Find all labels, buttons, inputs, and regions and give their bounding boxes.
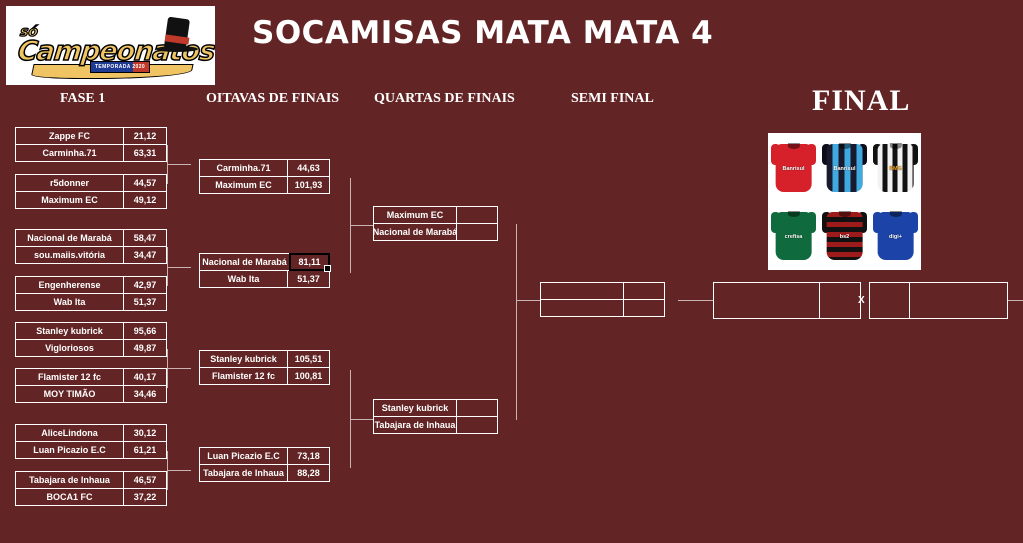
season-badge-label: TEMPORADA 2020 — [95, 64, 145, 70]
team-name: Maximum EC — [374, 207, 457, 223]
match-row[interactable]: sou.maiis.vitória 34,47 — [15, 246, 167, 264]
jersey-internacional: Banrisul — [768, 133, 819, 202]
jersey-sponsor: Banrisul — [833, 166, 855, 172]
team-name: Tabajara de Inhaua — [16, 472, 124, 488]
match-oitavas-3[interactable]: Stanley kubrick 105,51 Flamister 12 fc 1… — [199, 350, 330, 385]
match-row[interactable]: Maximum EC 101,93 — [199, 176, 330, 194]
team-score[interactable]: 105,51 — [288, 351, 329, 367]
match-row[interactable]: Luan Picazio E.C 61,21 — [15, 441, 167, 459]
match-row[interactable]: AliceLindona 30,12 — [15, 424, 167, 442]
round-header-semi: SEMI FINAL — [571, 91, 654, 107]
team-score[interactable]: 34,46 — [124, 386, 166, 402]
connector — [167, 470, 191, 471]
match-row[interactable]: Flamister 12 fc 40,17 — [15, 368, 167, 386]
round-header-oitavas: OITAVAS DE FINAIS — [206, 91, 339, 107]
team-score[interactable]: 51,37 — [288, 271, 329, 287]
team-score[interactable]: 49,12 — [124, 192, 166, 208]
match-row[interactable]: Nacional de Marabá 58,47 — [15, 229, 167, 247]
team-score[interactable]: 100,81 — [288, 368, 329, 384]
match-row[interactable] — [869, 282, 1008, 319]
match-row[interactable]: BOCA1 FC 37,22 — [15, 488, 167, 506]
match-final-right[interactable] — [869, 282, 1008, 319]
team-score[interactable]: 30,12 — [124, 425, 166, 441]
jersey-sponsor: digi+ — [889, 234, 902, 240]
jersey-palmeiras: crefisa — [768, 202, 819, 271]
team-name: Nacional de Marabá — [16, 230, 124, 246]
team-name: Luan Picazio E.C — [16, 442, 124, 458]
team-score[interactable]: 21,12 — [124, 128, 166, 144]
match-row[interactable]: Carminha.71 44,63 — [199, 159, 330, 177]
top-hat-icon — [164, 17, 190, 50]
team-score[interactable]: 95,66 — [124, 323, 166, 339]
match-row[interactable]: Tabajara de Inhaua — [373, 416, 498, 434]
team-score[interactable]: 37,22 — [124, 489, 166, 505]
team-name: AliceLindona — [16, 425, 124, 441]
team-score[interactable]: 44,57 — [124, 175, 166, 191]
team-name: Tabajara de Inhaua — [200, 465, 288, 481]
match-oitavas-4[interactable]: Luan Picazio E.C 73,18 Tabajara de Inhau… — [199, 447, 330, 482]
connector — [516, 300, 540, 301]
team-name: Stanley kubrick — [16, 323, 124, 339]
match-semifinal-1[interactable] — [540, 282, 665, 317]
team-score[interactable]: 42,97 — [124, 277, 166, 293]
jersey-flamengo: bs2 — [819, 202, 870, 271]
match-row[interactable]: Maximum EC 49,12 — [15, 191, 167, 209]
jersey-cruzeiro: digi+ — [870, 202, 921, 271]
match-row[interactable]: Nacional de Marabá — [373, 223, 498, 241]
match-fase1-1[interactable]: Zappe FC 21,12 Carminha.71 63,31 — [15, 127, 167, 162]
page-title: SOCAMISAS MATA MATA 4 — [252, 15, 713, 51]
match-row[interactable]: Stanley kubrick — [373, 399, 498, 417]
so-campeonatos-logo: só Campeonatos TEMPORADA 2020 — [6, 6, 215, 85]
match-final-left[interactable] — [713, 282, 861, 319]
logo-artwork: só Campeonatos TEMPORADA 2020 — [6, 6, 215, 85]
jersey-sponsor: Banrisul — [782, 166, 804, 172]
team-name: Wab Ita — [200, 271, 288, 287]
finalists-jersey-collage: Banrisul Banrisul BMG crefisa — [768, 133, 921, 270]
jersey-atletico-mg: BMG — [870, 133, 921, 202]
connector — [167, 368, 191, 369]
match-row[interactable]: r5donner 44,57 — [15, 174, 167, 192]
team-name — [910, 283, 1007, 318]
match-row[interactable]: Wab Ita 51,37 — [15, 293, 167, 311]
season-badge: TEMPORADA 2020 — [90, 61, 150, 73]
jersey-gremio: Banrisul — [819, 133, 870, 202]
match-row[interactable]: Vigloriosos 49,87 — [15, 339, 167, 357]
team-name: Tabajara de Inhaua — [374, 417, 457, 433]
team-name: Luan Picazio E.C — [200, 448, 288, 464]
match-fase1-6[interactable]: Flamister 12 fc 40,17 MOY TIMÃO 34,46 — [15, 368, 167, 403]
team-name: Nacional de Marabá — [200, 254, 290, 270]
match-row[interactable] — [540, 299, 665, 317]
connector — [350, 225, 374, 226]
connector — [167, 267, 191, 268]
match-row[interactable]: Engenherense 42,97 — [15, 276, 167, 294]
match-quartas-1[interactable]: Maximum EC Nacional de Marabá — [373, 206, 498, 241]
team-score[interactable] — [457, 207, 497, 223]
match-row[interactable]: Luan Picazio E.C 73,18 — [199, 447, 330, 465]
team-name: Flamister 12 fc — [16, 369, 124, 385]
round-header-fase1: FASE 1 — [60, 91, 105, 107]
team-name: Engenherense — [16, 277, 124, 293]
match-row[interactable]: Carminha.71 63,31 — [15, 144, 167, 162]
match-row[interactable]: Stanley kubrick 105,51 — [199, 350, 330, 368]
team-score[interactable] — [624, 300, 664, 316]
team-score[interactable]: 49,87 — [124, 340, 166, 356]
round-header-final: FINAL — [812, 84, 910, 118]
match-fase1-3[interactable]: Nacional de Marabá 58,47 sou.maiis.vitór… — [15, 229, 167, 264]
team-score[interactable]: 51,37 — [124, 294, 166, 310]
team-name: Zappe FC — [16, 128, 124, 144]
match-fase1-5[interactable]: Stanley kubrick 95,66 Vigloriosos 49,87 — [15, 322, 167, 357]
team-name: MOY TIMÃO — [16, 386, 124, 402]
team-name: Stanley kubrick — [374, 400, 457, 416]
team-score[interactable]: 58,47 — [124, 230, 166, 246]
jersey-sponsor: BMG — [889, 166, 902, 172]
jersey-sponsor: crefisa — [785, 234, 803, 240]
team-score[interactable]: 40,17 — [124, 369, 166, 385]
match-row[interactable]: Zappe FC 21,12 — [15, 127, 167, 145]
team-score[interactable]: 63,31 — [124, 145, 166, 161]
match-row[interactable] — [713, 282, 861, 319]
team-score[interactable] — [820, 283, 860, 318]
team-score[interactable]: 73,18 — [288, 448, 329, 464]
round-header-quartas: QUARTAS DE FINAIS — [374, 91, 515, 107]
match-row[interactable]: MOY TIMÃO 34,46 — [15, 385, 167, 403]
team-score[interactable] — [457, 400, 497, 416]
match-row[interactable]: Tabajara de Inhaua 88,28 — [199, 464, 330, 482]
team-score-active-cell[interactable]: 81,11 — [289, 253, 330, 271]
team-name — [714, 283, 820, 318]
team-score[interactable] — [457, 417, 497, 433]
team-score[interactable] — [624, 283, 664, 299]
team-score[interactable]: 101,93 — [288, 177, 329, 193]
connector — [167, 164, 191, 165]
connector — [678, 300, 714, 301]
team-name: Stanley kubrick — [200, 351, 288, 367]
jersey-sponsor: bs2 — [840, 234, 849, 240]
team-score[interactable] — [870, 283, 910, 318]
match-row-selected[interactable]: Nacional de Marabá 81,11 — [199, 253, 330, 271]
team-score[interactable]: 88,28 — [288, 465, 329, 481]
versus-separator: X — [858, 295, 865, 306]
team-name: Vigloriosos — [16, 340, 124, 356]
connector — [1007, 300, 1023, 301]
match-row[interactable] — [540, 282, 665, 300]
match-row[interactable]: Stanley kubrick 95,66 — [15, 322, 167, 340]
match-quartas-2[interactable]: Stanley kubrick Tabajara de Inhaua — [373, 399, 498, 434]
match-fase1-7[interactable]: AliceLindona 30,12 Luan Picazio E.C 61,2… — [15, 424, 167, 459]
team-score[interactable]: 46,57 — [124, 472, 166, 488]
team-name: Maximum EC — [200, 177, 288, 193]
match-fase1-4[interactable]: Engenherense 42,97 Wab Ita 51,37 — [15, 276, 167, 311]
match-row[interactable]: Maximum EC — [373, 206, 498, 224]
connector — [350, 419, 374, 420]
team-name: Carminha.71 — [16, 145, 124, 161]
match-row[interactable]: Tabajara de Inhaua 46,57 — [15, 471, 167, 489]
team-score[interactable]: 34,47 — [124, 247, 166, 263]
team-name: Wab Ita — [16, 294, 124, 310]
team-score[interactable]: 44,63 — [288, 160, 329, 176]
team-name: Nacional de Marabá — [374, 224, 457, 240]
team-score[interactable]: 61,21 — [124, 442, 166, 458]
match-row[interactable]: Wab Ita 51,37 — [199, 270, 330, 288]
top-hat-brim — [156, 46, 198, 52]
match-fase1-8[interactable]: Tabajara de Inhaua 46,57 BOCA1 FC 37,22 — [15, 471, 167, 506]
bracket-canvas: só Campeonatos TEMPORADA 2020 SOCAMISAS … — [0, 0, 1023, 543]
match-oitavas-1[interactable]: Carminha.71 44,63 Maximum EC 101,93 — [199, 159, 330, 194]
match-oitavas-2[interactable]: Nacional de Marabá 81,11 Wab Ita 51,37 — [199, 253, 330, 288]
team-name: Carminha.71 — [200, 160, 288, 176]
match-row[interactable]: Flamister 12 fc 100,81 — [199, 367, 330, 385]
connector — [516, 224, 517, 420]
team-name: Flamister 12 fc — [200, 368, 288, 384]
team-name — [541, 300, 624, 316]
team-name — [541, 283, 624, 299]
team-name: BOCA1 FC — [16, 489, 124, 505]
team-name: r5donner — [16, 175, 124, 191]
match-fase1-2[interactable]: r5donner 44,57 Maximum EC 49,12 — [15, 174, 167, 209]
team-score[interactable] — [457, 224, 497, 240]
team-name: Maximum EC — [16, 192, 124, 208]
team-name: sou.maiis.vitória — [16, 247, 124, 263]
